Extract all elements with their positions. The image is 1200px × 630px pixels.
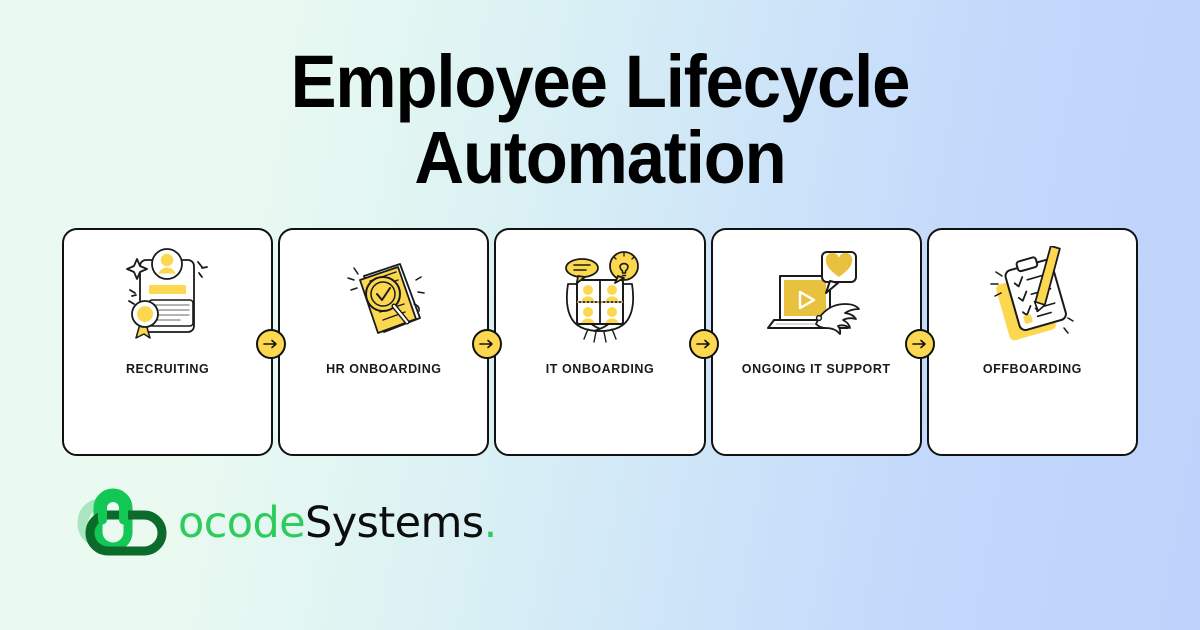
flow-connector-1 — [256, 329, 286, 359]
flow-connector-3 — [689, 329, 719, 359]
arrow-right-icon — [696, 338, 712, 350]
flow-step-hr-onboarding[interactable]: HR ONBOARDING — [278, 228, 489, 456]
checklist-pencil-icon — [978, 246, 1086, 346]
flow-step-recruiting[interactable]: RECRUITING — [62, 228, 273, 456]
arrow-right-icon — [479, 338, 495, 350]
resume-award-icon — [114, 246, 222, 346]
arrow-right-icon — [263, 338, 279, 350]
brand-name-secondary: Systems — [305, 498, 484, 548]
flow-connector-4 — [905, 329, 935, 359]
flow-step-label: ONGOING IT SUPPORT — [742, 362, 891, 376]
flow-step-it-onboarding[interactable]: IT ONBOARDING — [494, 228, 705, 456]
brand-name-primary: ocode — [178, 498, 305, 548]
brand-logo-text: ocodeSystems. — [178, 502, 497, 545]
brand-logo[interactable]: ocodeSystems. — [68, 487, 497, 559]
page-title: Employee Lifecycle Automation — [42, 44, 1158, 196]
flow-step-offboarding[interactable]: OFFBOARDING — [927, 228, 1138, 456]
interlocking-pills-logo-icon — [68, 487, 188, 559]
lifecycle-flow: RECRUITING — [62, 228, 1138, 456]
brand-name-dot: . — [484, 498, 497, 548]
document-check-magnifier-icon — [330, 246, 438, 346]
arrow-right-icon — [912, 338, 928, 350]
flow-step-label: RECRUITING — [126, 362, 209, 376]
flow-step-label: OFFBOARDING — [983, 362, 1082, 376]
flow-step-ongoing-it-support[interactable]: ONGOING IT SUPPORT — [711, 228, 922, 456]
poster-canvas: Employee Lifecycle Automation — [0, 0, 1200, 630]
flow-step-label: IT ONBOARDING — [546, 362, 655, 376]
laptop-heart-support-icon — [762, 246, 870, 346]
tablet-video-call-icon — [546, 246, 654, 346]
flow-step-label: HR ONBOARDING — [326, 362, 441, 376]
